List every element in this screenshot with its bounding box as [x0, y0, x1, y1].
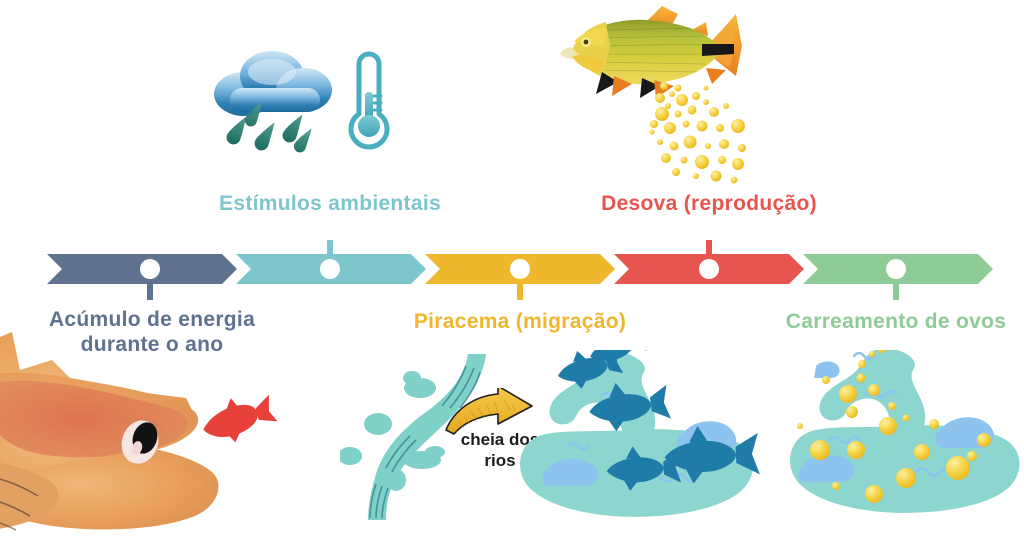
environmental-stimuli-illustration: [200, 48, 400, 163]
timeline-label-4: Desova (reprodução): [559, 192, 859, 217]
timeline-marker-5: [886, 259, 906, 279]
timeline-marker-4: [699, 259, 719, 279]
timeline-label-1: Acúmulo de energia durante o ano: [20, 308, 284, 358]
lagoon-with-eggs-illustration: [786, 350, 1024, 520]
timeline-marker-3: [510, 259, 530, 279]
timeline-label-5: Carreamento de ovos: [746, 310, 1024, 335]
fish-eggs: [650, 82, 747, 184]
timeline-label-1-line1: Acúmulo de energia: [20, 308, 284, 333]
prey-fish-icon: [198, 388, 280, 449]
rain-cloud-icon: [214, 51, 332, 116]
lagoon-with-fish-illustration: [516, 350, 766, 520]
infographic-canvas: Acúmulo de energia durante o ano Estímul…: [0, 0, 1024, 537]
timeline-label-2: Estímulos ambientais: [180, 192, 480, 217]
timeline-label-1-line2: durante o ano: [20, 333, 284, 358]
timeline-marker-1: [140, 259, 160, 279]
timeline: [0, 250, 1024, 290]
timeline-marker-2: [320, 259, 340, 279]
timeline-label-3: Piracema (migração): [370, 310, 670, 335]
spawning-fish-illustration: [556, 2, 806, 190]
thermometer-icon: [351, 54, 387, 147]
